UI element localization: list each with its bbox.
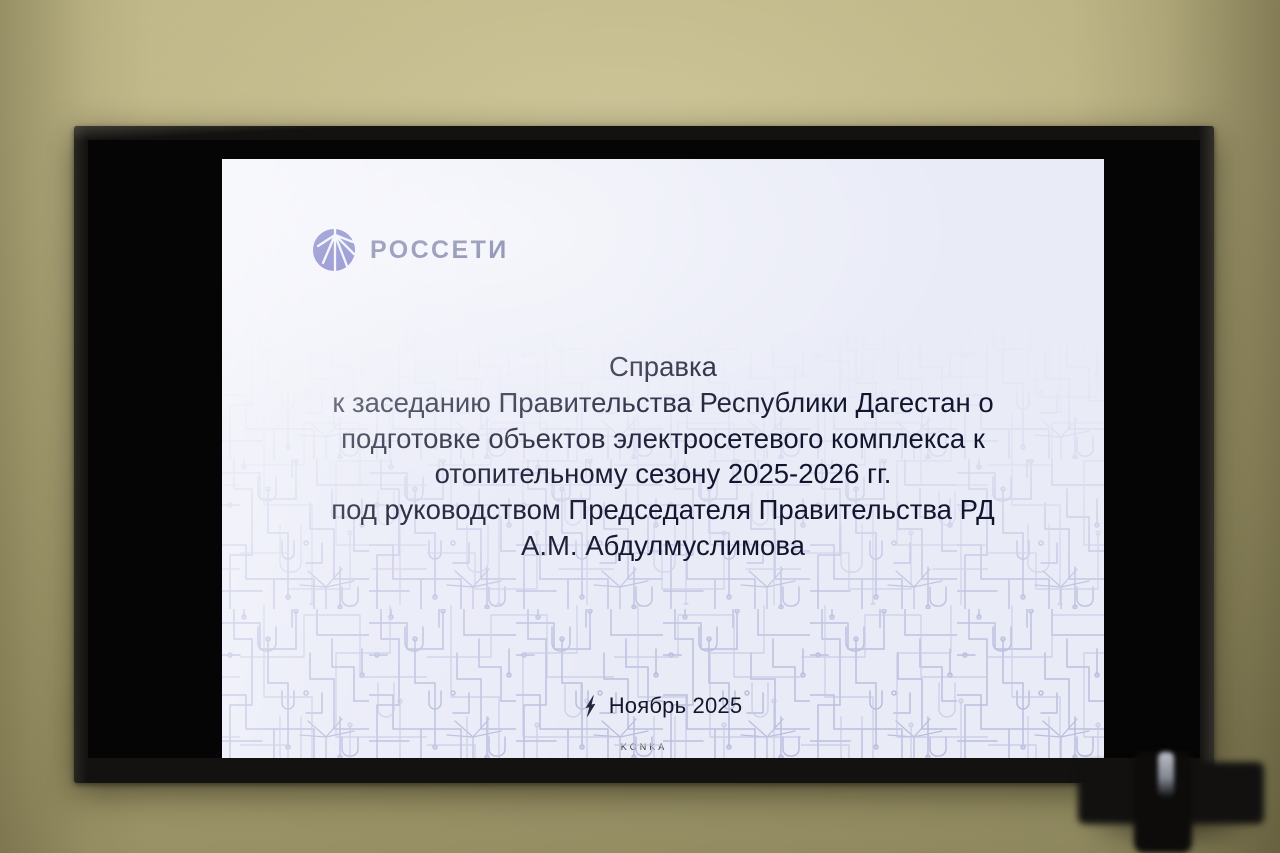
slide-headline: Справка к заседанию Правительства Респуб… <box>256 349 1070 564</box>
headline-line-5: под руководством Председателя Правительс… <box>256 492 1070 528</box>
headline-line-1: Справка <box>256 349 1070 385</box>
lightning-bolt-icon <box>584 695 597 717</box>
headline-line-3: подготовке объектов электросетевого комп… <box>256 421 1070 457</box>
rosseti-logo: РОССЕТИ <box>311 227 509 273</box>
tv-screen: РОССЕТИ Справка к заседанию Правительств… <box>88 140 1200 758</box>
rosseti-emblem-icon <box>311 227 357 273</box>
headline-line-2: к заседанию Правительства Республики Даг… <box>256 385 1070 421</box>
wall-mounted-television: РОССЕТИ Справка к заседанию Правительств… <box>74 126 1214 783</box>
headline-line-6: А.М. Абдулмуслимова <box>256 528 1070 564</box>
slide-date-text: Ноябрь 2025 <box>609 693 743 719</box>
presentation-slide: РОССЕТИ Справка к заседанию Правительств… <box>222 159 1104 758</box>
room-scene: РОССЕТИ Справка к заседанию Правительств… <box>0 0 1280 853</box>
rosseti-wordmark: РОССЕТИ <box>370 238 509 263</box>
headline-line-4: отопительному сезону 2025-2026 гг. <box>256 456 1070 492</box>
slide-date-row: Ноябрь 2025 <box>222 693 1104 719</box>
